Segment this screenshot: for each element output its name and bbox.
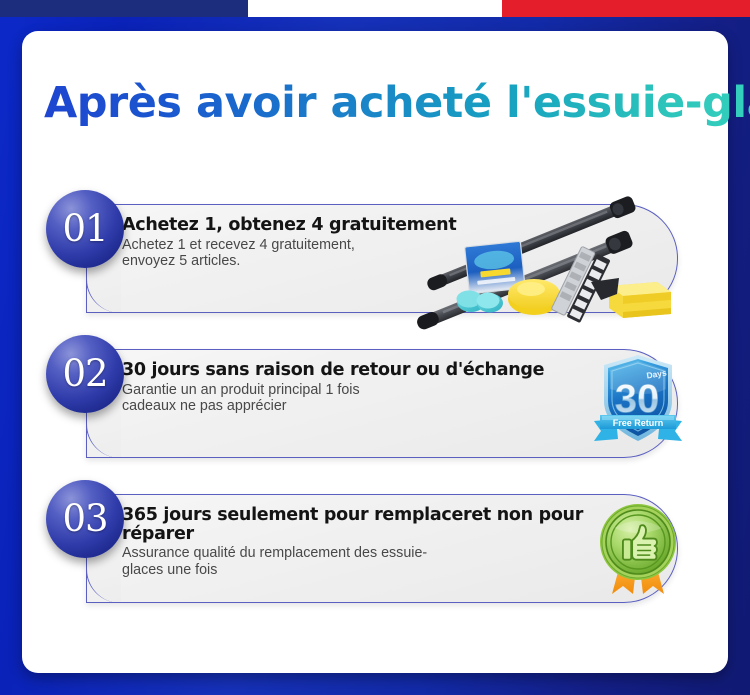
page-title-wrap: Après avoir acheté l'essuie-glace	[0, 78, 750, 128]
benefit-text-3: 365 jours seulement pour remplaceret non…	[122, 506, 630, 579]
benefit-body: Garantie un an produit principal 1 fois …	[122, 382, 630, 416]
benefit-text-2: 30 jours sans raison de retour ou d'écha…	[122, 361, 630, 415]
page-title: Après avoir acheté l'essuie-glace	[0, 78, 750, 128]
benefit-heading: 365 jours seulement pour remplaceret non…	[122, 506, 630, 543]
free-return-label: Free Return	[613, 418, 664, 428]
benefit-heading: 30 jours sans raison de retour ou d'écha…	[122, 361, 630, 380]
french-flag-bar	[0, 0, 750, 17]
step-badge-number: 01	[62, 210, 107, 247]
flag-stripe-red	[502, 0, 750, 17]
benefit-list: 01 Achetez 1, obtenez 4 gratuitement Ach…	[0, 190, 750, 625]
step-badge-02: 02	[46, 335, 124, 413]
list-item: 02 30 jours sans raison de retour ou d'é…	[0, 335, 750, 480]
benefit-body: Achetez 1 et recevez 4 gratuitement, env…	[122, 237, 630, 271]
step-badge-01: 01	[46, 190, 124, 268]
benefit-heading: Achetez 1, obtenez 4 gratuitement	[122, 216, 630, 235]
list-item: 01 Achetez 1, obtenez 4 gratuitement Ach…	[0, 190, 750, 335]
flag-stripe-white	[248, 0, 502, 17]
days-count: 30	[615, 377, 660, 421]
benefit-body: Assurance qualité du remplacement des es…	[122, 545, 630, 579]
benefit-text-1: Achetez 1, obtenez 4 gratuitement Achete…	[122, 216, 630, 270]
step-badge-number: 03	[62, 500, 107, 537]
thirty-day-return-shield-badge: Days 30 Free Return	[588, 349, 688, 457]
step-badge-number: 02	[62, 355, 107, 392]
flag-stripe-blue	[0, 0, 248, 17]
list-item: 03 365 jours seulement pour remplaceret …	[0, 480, 750, 625]
step-badge-03: 03	[46, 480, 124, 558]
promo-banner: Après avoir acheté l'essuie-glace 01 Ach…	[0, 0, 750, 695]
quality-thumbs-up-medal	[588, 494, 688, 602]
